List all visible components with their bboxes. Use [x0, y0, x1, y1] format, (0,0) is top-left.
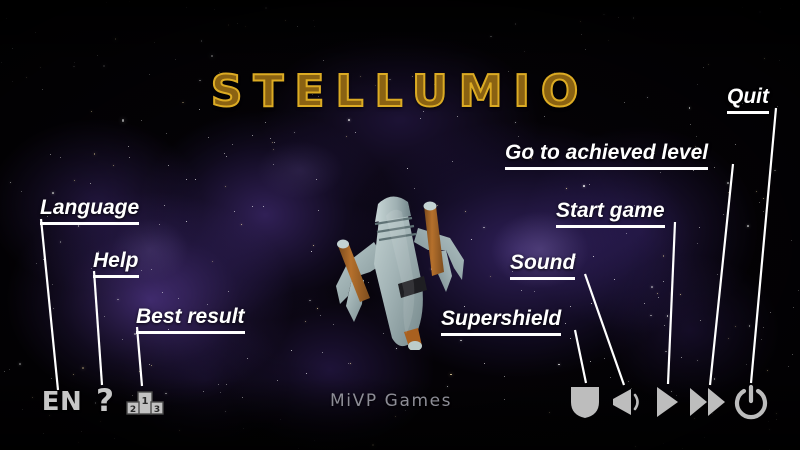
annotation-help: Help — [93, 250, 139, 278]
supershield-button[interactable] — [568, 384, 602, 420]
ship-right-rod-cap — [424, 202, 437, 211]
game-title: STELLUMIO — [0, 66, 800, 117]
shield-icon — [568, 384, 602, 420]
ship-left-rod-cap — [337, 240, 349, 249]
quit-button[interactable] — [733, 384, 769, 420]
leader-start-game — [668, 222, 675, 384]
best-result-button[interactable]: 1 2 3 — [126, 387, 164, 419]
podium-rank-2: 2 — [130, 405, 136, 415]
podium-rank-3: 3 — [154, 405, 160, 415]
leader-best-result — [137, 327, 142, 386]
annotation-language: Language — [40, 197, 139, 225]
help-button[interactable]: ? — [92, 383, 118, 419]
leader-sound — [585, 274, 624, 385]
language-button[interactable]: EN — [38, 385, 86, 419]
power-icon — [733, 384, 769, 420]
leader-help — [94, 271, 102, 385]
annotation-quit: Quit — [727, 86, 769, 114]
podium-icon: 1 2 3 — [126, 387, 164, 419]
game-main-menu-screen: STELLUMIO — [0, 0, 800, 450]
leader-supershield — [575, 330, 586, 383]
podium-rank-1: 1 — [142, 396, 149, 407]
leader-quit — [751, 108, 776, 383]
play-icon — [652, 385, 682, 419]
leader-language — [41, 219, 58, 390]
annotation-achieved: Go to achieved level — [505, 142, 708, 170]
annotation-sound: Sound — [510, 252, 575, 280]
start-game-button[interactable] — [652, 385, 682, 419]
question-mark-icon: ? — [96, 383, 114, 419]
fast-forward-icon — [688, 386, 728, 418]
annotation-supershield: Supershield — [441, 308, 561, 336]
sound-button[interactable] — [608, 386, 646, 418]
annotation-best-result: Best result — [136, 306, 245, 334]
language-en-icon: EN — [42, 387, 83, 417]
achieved-level-button[interactable] — [688, 386, 728, 418]
annotation-start-game: Start game — [556, 200, 665, 228]
leader-achieved — [710, 164, 733, 385]
studio-credit: MiVP Games — [330, 391, 452, 411]
speaker-icon — [608, 386, 646, 418]
